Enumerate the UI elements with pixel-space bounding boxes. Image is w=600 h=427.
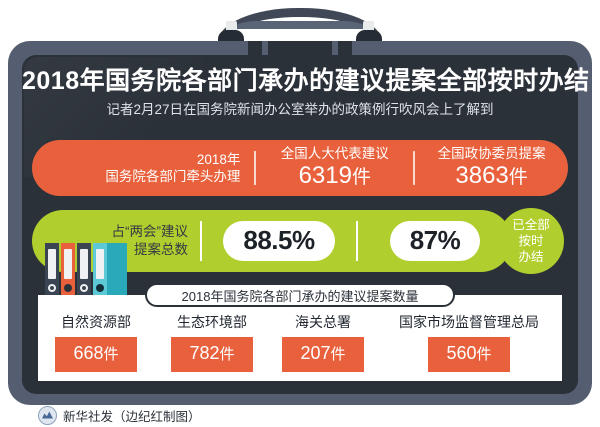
department-value: 668件 [55, 337, 137, 372]
percentage-npc-wrap: 88.5% [202, 221, 356, 261]
department-value: 207件 [282, 337, 364, 372]
binder-4-icon [93, 243, 107, 299]
percentage-cppcc-value: 87% [390, 221, 481, 261]
orange-caption-line1: 2018年 [32, 151, 240, 168]
department-number: 668 [73, 343, 103, 363]
stat-npc-number: 6319 [299, 162, 352, 189]
percentage-npc-value: 88.5% [223, 221, 334, 261]
stat-npc-label: 全国人大代表建议 [256, 145, 413, 162]
binders-icon [45, 243, 117, 299]
department-list: 自然资源部 668件 生态环境部 782件 海关总署 207件 国家市场监督管理… [38, 312, 562, 376]
stat-npc-suggestions: 全国人大代表建议 6319件 [256, 140, 413, 196]
binder-3-ring [80, 284, 88, 292]
stat-cppcc-number: 3863 [455, 162, 508, 189]
department-item: 国家市场监督管理总局 560件 [376, 312, 562, 372]
binder-block-icon [107, 243, 127, 299]
stat-cppcc-unit: 件 [509, 167, 528, 188]
department-unit: 件 [104, 346, 119, 363]
orange-caption-line2: 国务院各部门牵头办理 [32, 168, 240, 185]
binder-4-ring [96, 284, 104, 292]
footer-credit: 新华社发（边纪红制图） [38, 404, 201, 426]
binder-1-label [48, 249, 56, 279]
stat-npc-value: 6319件 [256, 163, 413, 191]
binder-3-label [80, 249, 88, 279]
department-item: 自然资源部 668件 [38, 312, 154, 372]
department-item: 海关总署 207件 [270, 312, 376, 372]
department-value: 560件 [428, 337, 510, 372]
infographic-root: 2018年国务院各部门承办的建议提案全部按时办结 记者2月27日在国务院新闻办公… [0, 0, 600, 427]
binder-2-ring [64, 284, 72, 292]
department-unit: 件 [220, 346, 235, 363]
status-badge-line3: 办结 [512, 249, 550, 265]
status-badge: 已全部 按时 办结 [498, 208, 564, 274]
status-badge-line2: 按时 [512, 233, 550, 249]
department-name: 海关总署 [295, 312, 351, 332]
binder-3-icon [77, 243, 91, 299]
department-number: 207 [300, 343, 330, 363]
xinhua-logo-icon [38, 406, 57, 425]
department-name: 国家市场监督管理总局 [399, 312, 539, 332]
department-name: 生态环境部 [177, 312, 247, 332]
stat-cppcc-label: 全国政协委员提案 [415, 145, 568, 162]
stat-npc-unit: 件 [352, 167, 371, 188]
stat-cppcc-proposals: 全国政协委员提案 3863件 [415, 140, 568, 196]
binder-2-label [64, 249, 72, 279]
binder-2-icon [61, 243, 75, 299]
department-unit: 件 [477, 346, 492, 363]
footer-credit-text: 新华社发（边纪红制图） [63, 406, 201, 425]
stat-cppcc-value: 3863件 [415, 163, 568, 191]
panel-title-pill: 2018年国务院各部门承办的建议提案数量 [145, 283, 455, 307]
suitcase-handle [0, 0, 600, 46]
department-name: 自然资源部 [61, 312, 131, 332]
green-caption-line1: 占“两会”建议 [32, 223, 188, 241]
page-title: 2018年国务院各部门承办的建议提案全部按时办结 [22, 66, 578, 96]
page-subtitle: 记者2月27日在国务院新闻办公室举办的政策例行吹风会上了解到 [22, 100, 578, 119]
department-item: 生态环境部 782件 [154, 312, 270, 372]
department-number: 560 [446, 343, 476, 363]
binder-1-ring [48, 284, 56, 292]
binder-1-icon [45, 243, 59, 299]
orange-bar-caption: 2018年 国务院各部门牵头办理 [32, 140, 254, 196]
department-unit: 件 [331, 346, 346, 363]
department-number: 782 [189, 343, 219, 363]
status-badge-line1: 已全部 [512, 217, 550, 233]
binder-4-label [96, 249, 104, 279]
percentage-cppcc-wrap: 87% [358, 221, 512, 261]
orange-stats-bar: 2018年 国务院各部门牵头办理 全国人大代表建议 6319件 全国政协委员提案… [32, 140, 568, 196]
department-value: 782件 [171, 337, 253, 372]
